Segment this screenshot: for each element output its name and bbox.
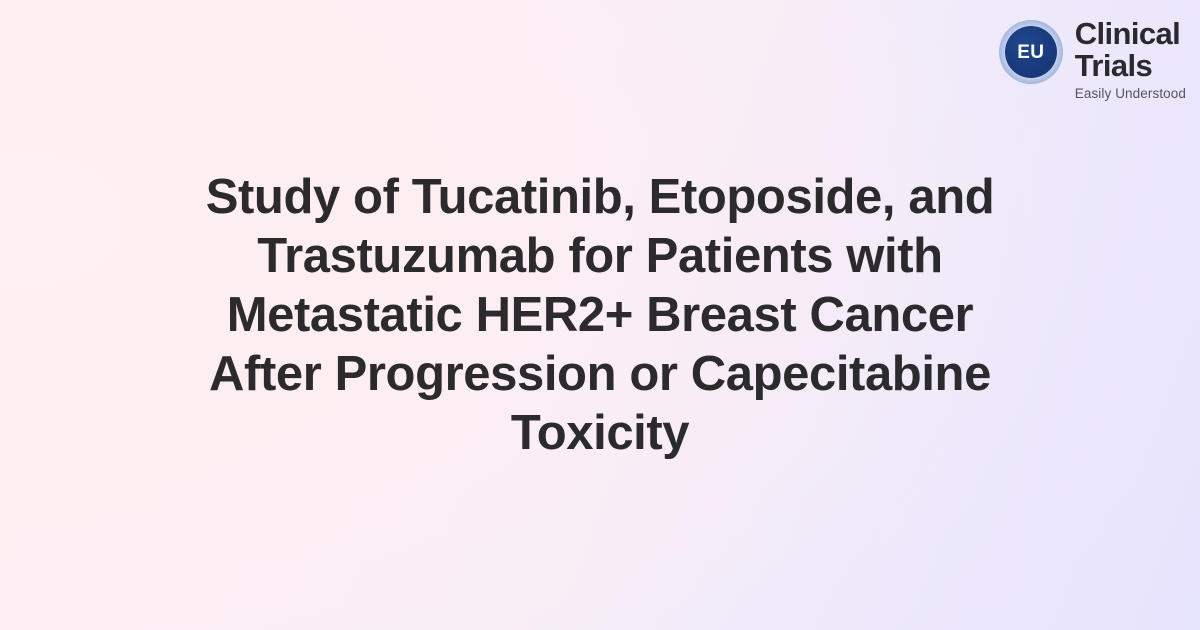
title-line: After Progression or Capecitabine xyxy=(140,345,1060,404)
title-line: Trastuzumab for Patients with xyxy=(140,227,1060,286)
title-line: Study of Tucatinib, Etoposide, and xyxy=(140,168,1060,227)
title-line: Metastatic HER2+ Breast Cancer xyxy=(140,286,1060,345)
page-title: Study of Tucatinib, Etoposide, and Trast… xyxy=(140,168,1060,463)
social-share-card: EU Clinical Trials Easily Understood Stu… xyxy=(0,0,1200,630)
headline-container: Study of Tucatinib, Etoposide, and Trast… xyxy=(0,0,1200,630)
title-line: Toxicity xyxy=(140,404,1060,463)
